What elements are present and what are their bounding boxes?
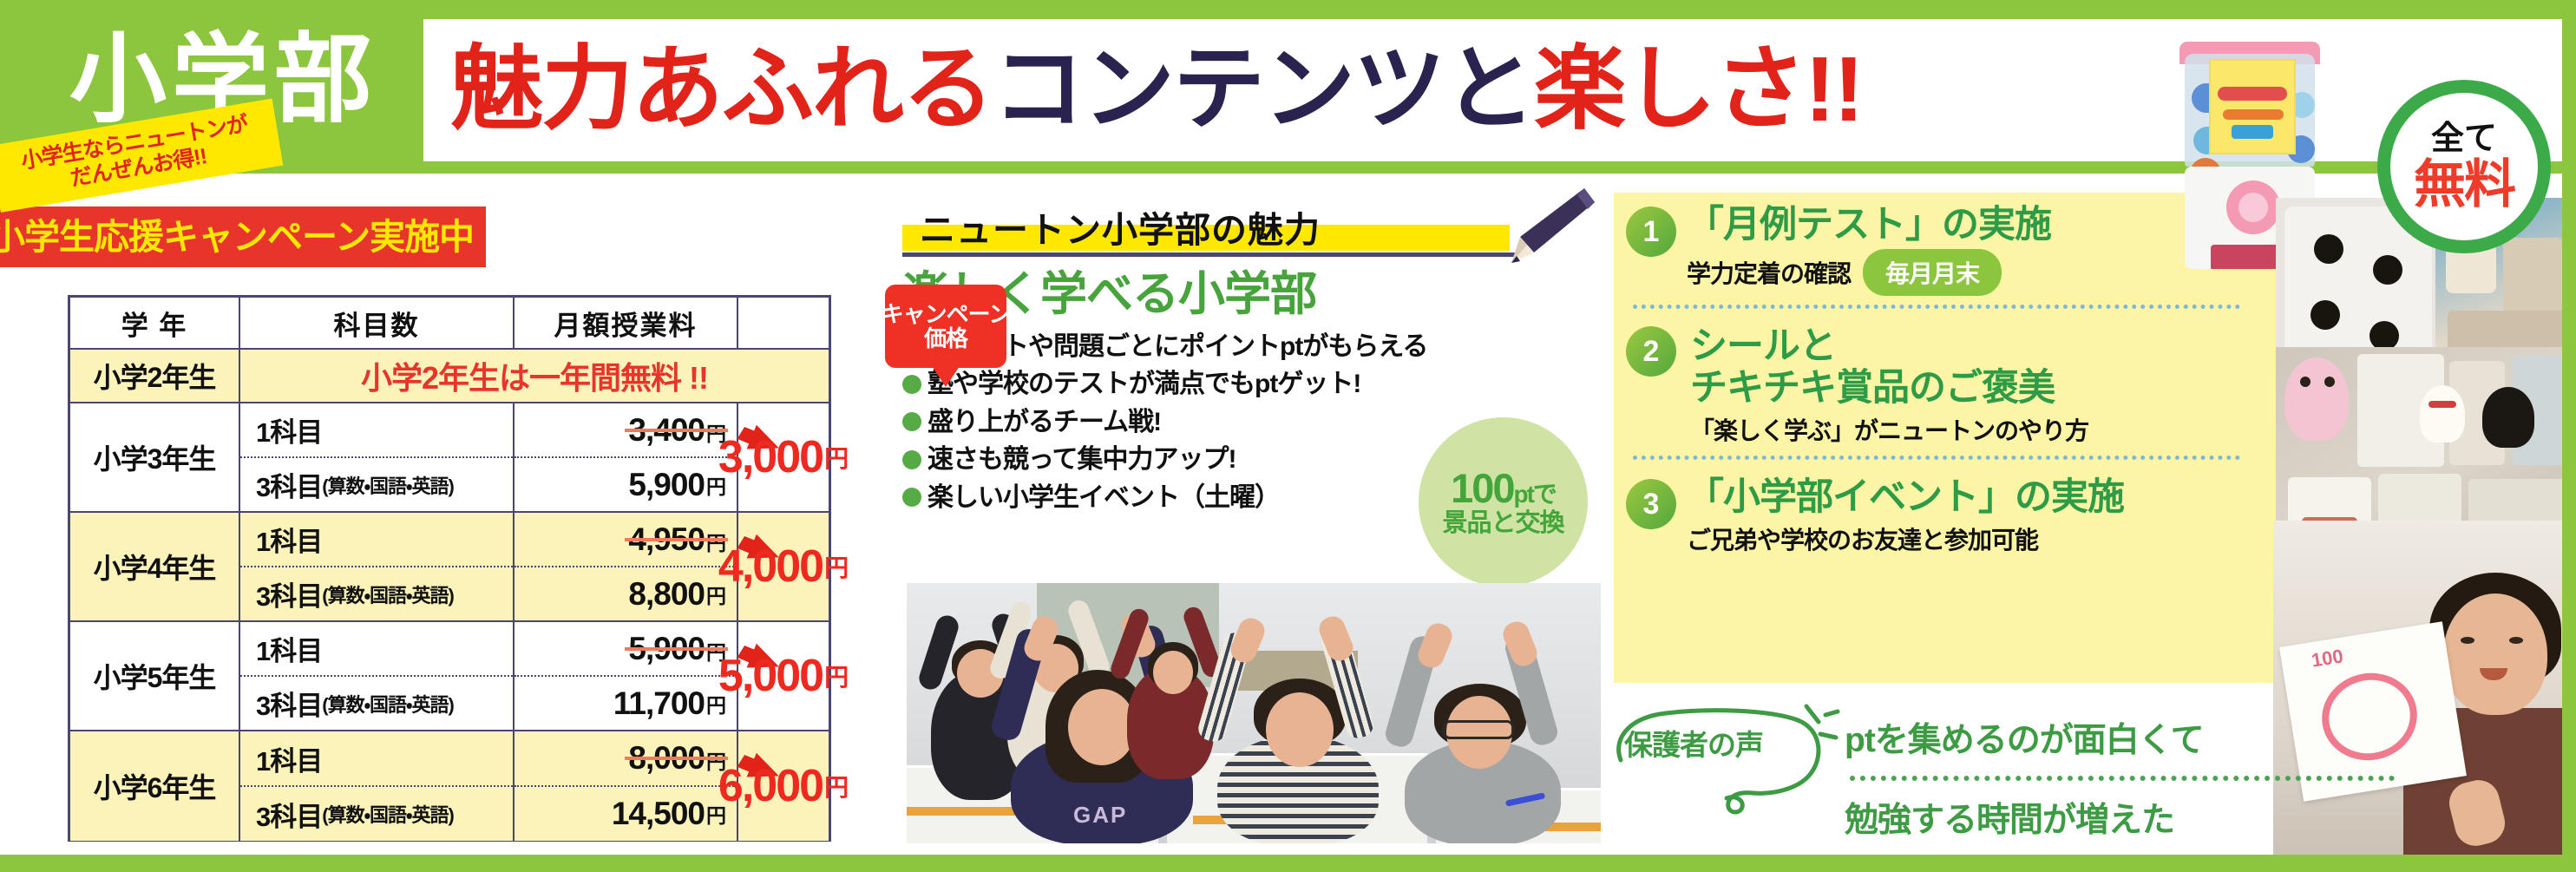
fee-row-3: 8,800円: [515, 567, 737, 620]
table-header-monthly-fee: 月額授業料: [515, 298, 738, 348]
subject-3-sub: (算数・国語・英語): [322, 690, 454, 718]
table-header-campaign-slot: [738, 298, 829, 348]
fee-3: 14,500: [612, 796, 705, 832]
subject-3-main: 3科目: [256, 795, 322, 834]
fee-cell: 3,400円 5,900円: [515, 403, 738, 511]
classroom-photo: GAP: [907, 583, 1601, 843]
campaign-price-badge: キャンペーン 価格: [885, 285, 1006, 368]
all-free-badge: 全て 無料: [2377, 80, 2551, 253]
grade-name-cell: 小学4年生: [70, 513, 240, 620]
fee-row-1: 4,950円: [515, 513, 737, 567]
middle-title: ニュートン小学部の魅力: [902, 195, 1588, 252]
feature-number-badge: 2: [1626, 326, 1676, 377]
grade-name: 小学3年生: [94, 437, 216, 477]
fee-cell: 5,900円 11,700円: [515, 622, 738, 730]
point-exchange-label: 景品と交換: [1442, 510, 1563, 538]
bullet-dot-icon: [902, 412, 921, 431]
subject-3: 3科目 (算数・国語・英語): [240, 677, 513, 730]
footer-green-band: [0, 855, 2576, 872]
headline-part-2: コンテンツと: [993, 43, 1534, 135]
feature-number-badge: 3: [1626, 479, 1676, 529]
campaign-price: 6,000: [718, 760, 823, 812]
parent-voice-line-1: ptを集めるのが面白くて: [1845, 713, 2204, 762]
fee-cell: 4,950円 8,800円: [515, 513, 738, 620]
feature-subtitle-row: ご兄弟や学校のお友達と参加可能: [1687, 521, 2291, 556]
fee-3: 8,800: [628, 576, 705, 613]
fee-row-1: 8,000円: [515, 731, 737, 787]
subjects-cell: 1科目 3科目 (算数・国語・英語): [240, 403, 515, 511]
subject-1: 1科目: [240, 731, 513, 787]
all-free-badge-line-1: 全て: [2431, 122, 2497, 155]
campaign-price-cell: 4,000 円: [738, 513, 829, 620]
subject-1: 1科目: [240, 513, 513, 567]
feature-title-line-2: チキチキ賞品のご褒美: [1690, 368, 2291, 409]
feature-subtitle: ご兄弟や学校のお友達と参加可能: [1687, 521, 2038, 556]
fee-row-1: 3,400円: [515, 403, 737, 458]
grade-name-cell: 小学2年生: [70, 350, 240, 402]
subject-1: 1科目: [240, 622, 513, 677]
campaign-price-badge-line-2: 価格: [924, 326, 967, 351]
all-free-badge-line-2: 無料: [2414, 159, 2514, 211]
campaign-banner: 小学生応援キャンペーン実施中: [0, 207, 486, 267]
campaign-price-cell: 5,000 円: [738, 622, 829, 730]
table-header-grade: 学 年: [70, 298, 240, 348]
grade2-free-note: 小学2年生は一年間無料 !!: [240, 350, 829, 402]
point-unit: ptで: [1513, 481, 1555, 508]
bullet-dot-icon: [902, 488, 921, 507]
grade-name: 小学6年生: [94, 766, 216, 806]
campaign-price: 3,000: [718, 431, 823, 483]
subject-3: 3科目 (算数・国語・英語): [240, 458, 513, 511]
subject-3-main: 3科目: [256, 574, 322, 613]
middle-title-block: ニュートン小学部の魅力: [902, 195, 1588, 259]
subjects-cell: 1科目 3科目 (算数・国語・英語): [240, 731, 515, 841]
feature-subtitle: 「楽しく学ぶ」がニュートンのやり方: [1690, 412, 2088, 447]
feature-item-2: 2 シールと チキチキ賞品のご褒美 「楽しく学ぶ」がニュートンのやり方: [1614, 314, 2291, 460]
parent-voice-line-2: 勉強する時間が増えた: [1845, 793, 2174, 842]
point-amount-row: 100ptで: [1451, 466, 1556, 511]
divider: [1633, 305, 2240, 309]
pricing-table: 学 年 科目数 月額授業料 小学2年生 小学2年生は一年間無料 !! 小学3年生…: [68, 295, 831, 842]
divider: [1633, 456, 2240, 460]
table-row: 小学3年生 1科目 3科目 (算数・国語・英語) 3,400円 5,900円: [70, 403, 829, 513]
feature-item-3: 3 「小学部イベント」の実施 ご兄弟や学校のお友達と参加可能: [1614, 465, 2291, 556]
table-row: 小学5年生 1科目 3科目 (算数・国語・英語) 5,900円 11,700円: [70, 622, 829, 731]
table-row-grade2: 小学2年生 小学2年生は一年間無料 !!: [70, 350, 829, 403]
fee-1: 4,950: [628, 521, 705, 557]
divider: [1850, 776, 2395, 781]
table-row: 小学6年生 1科目 3科目 (算数・国語・英語) 8,000円 14,500円: [70, 731, 829, 841]
subject-3-main: 3科目: [256, 684, 322, 723]
grade-name: 小学2年生: [94, 356, 216, 396]
headline-part-1: 魅力あふれる: [451, 43, 993, 135]
subject-3-sub: (算数・国語・英語): [322, 471, 454, 499]
middle-title-rule: [902, 252, 1518, 257]
fee-1: 8,000: [628, 740, 705, 776]
list-item: 塾や学校のテストが満点でもptゲット!: [902, 365, 1596, 403]
campaign-price: 4,000: [718, 541, 823, 593]
grade-name-cell: 小学5年生: [70, 622, 240, 730]
fee-row-3: 5,900円: [515, 458, 737, 511]
campaign-banner-text: 小学生応援キャンペーン実施中: [0, 220, 474, 255]
headline-part-3: 楽しさ!!: [1534, 43, 1863, 135]
subject-3-sub: (算数・国語・英語): [322, 800, 454, 828]
grade-name: 小学4年生: [94, 547, 216, 587]
subjects-cell: 1科目 3科目 (算数・国語・英語): [240, 622, 515, 730]
campaign-price-yen: 円: [824, 659, 849, 693]
campaign-price-badge-line-1: キャンペーン: [882, 302, 1011, 326]
grade-name: 小学5年生: [94, 656, 216, 696]
point-amount: 100: [1451, 465, 1513, 511]
subject-3: 3科目 (算数・国語・英語): [240, 787, 513, 841]
bullet-text: 楽しい小学生イベント（土曜）: [927, 479, 1280, 517]
campaign-price-cell: 3,000 円: [738, 403, 829, 511]
fee-1: 5,900: [628, 631, 705, 666]
subjects-cell: 1科目 3科目 (算数・国語・英語): [240, 513, 515, 620]
list-item: 小テストや問題ごとにポイントptがもらえる: [902, 328, 1596, 366]
fee-row-3: 11,700円: [515, 677, 737, 730]
subject-3-sub: (算数・国語・英語): [322, 580, 454, 608]
feature-schedule-pill: 毎月月末: [1863, 249, 2002, 296]
feature-title-line-1: シールと: [1690, 326, 2291, 367]
feature-subtitle: 学力定着の確認: [1687, 255, 1851, 290]
campaign-price-yen: 円: [824, 549, 849, 584]
feature-subtitle-row: 「楽しく学ぶ」がニュートンのやり方: [1690, 412, 2291, 447]
grade-name-cell: 小学3年生: [70, 403, 240, 511]
parent-testimonial: 保護者の声 ptを集めるのが面白くて 勉強する時間が増えた: [1614, 703, 2481, 863]
fee-3: 11,700: [613, 685, 705, 722]
subject-3-main: 3科目: [256, 465, 322, 504]
table-header-subjects: 科目数: [240, 298, 515, 348]
right-green-edge: [2562, 0, 2576, 872]
fee-1: 3,400: [628, 412, 705, 448]
campaign-price-yen: 円: [824, 440, 849, 475]
fee-3: 5,900: [628, 467, 705, 503]
subject-3: 3科目 (算数・国語・英語): [240, 567, 513, 620]
headline: 魅力あふれる コンテンツと 楽しさ!!: [451, 24, 2186, 154]
campaign-price-cell: 6,000 円: [738, 731, 829, 841]
bullet-text: 速さも競って集中力アップ!: [927, 441, 1236, 479]
fee-row-1: 5,900円: [515, 622, 737, 677]
feature-number-badge: 1: [1626, 207, 1676, 257]
fee-cell: 8,000円 14,500円: [515, 731, 738, 841]
subject-1: 1科目: [240, 403, 513, 458]
bullet-text: 塾や学校のテストが満点でもptゲット!: [927, 365, 1360, 403]
grade-name-cell: 小学6年生: [70, 731, 240, 841]
fee-row-3: 14,500円: [515, 787, 737, 841]
campaign-price: 5,000: [718, 650, 823, 702]
campaign-price-yen: 円: [824, 769, 849, 803]
bullet-dot-icon: [902, 450, 921, 469]
bullet-dot-icon: [902, 375, 921, 394]
table-row: 小学4年生 1科目 3科目 (算数・国語・英語) 4,950円 8,800円: [70, 513, 829, 622]
table-header-row: 学 年 科目数 月額授業料: [70, 298, 829, 350]
point-exchange-badge: 100ptで 景品と交換: [1419, 417, 1588, 587]
parent-voice-label: 保護者の声: [1624, 722, 1763, 764]
bullet-text: 盛り上がるチーム戦!: [927, 403, 1161, 442]
feature-title: 「小学部イベント」の実施: [1687, 477, 2291, 518]
